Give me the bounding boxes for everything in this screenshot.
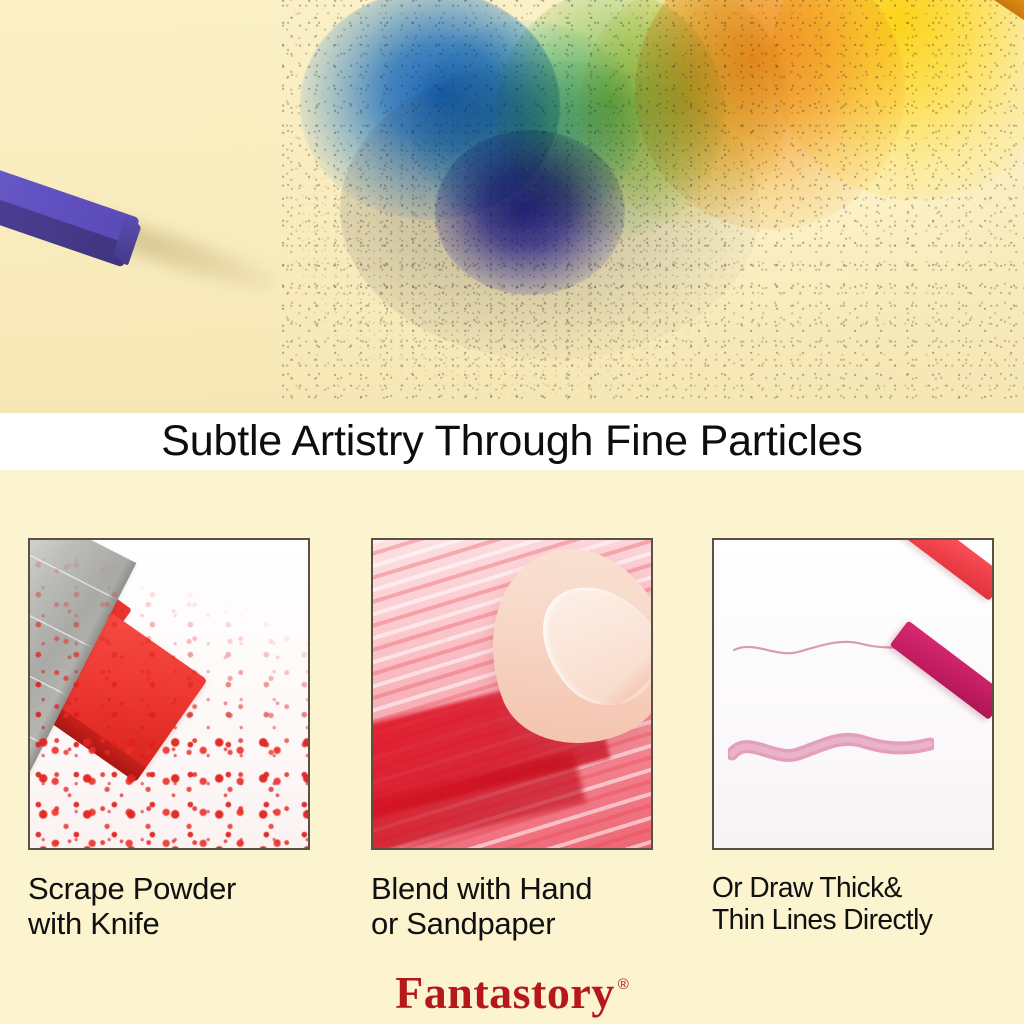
headline-band: Subtle Artistry Through Fine Particles (0, 413, 1024, 470)
t3-background (714, 540, 992, 848)
brand-logo: Fantastory ® (0, 962, 1024, 1024)
powder-fine-grain-texture (300, 40, 920, 410)
hero-image (0, 0, 1024, 413)
step-item-3: Or Draw Thick& Thin Lines Directly (712, 538, 996, 937)
t3-thick-line (728, 728, 934, 770)
registered-trademark-icon: ® (618, 976, 629, 993)
page-title: Subtle Artistry Through Fine Particles (161, 420, 862, 463)
step-item-1: Scrape Powder with Knife (28, 538, 312, 941)
step-item-2: Blend with Hand or Sandpaper (371, 538, 655, 941)
t1-red-powder-dust-heavy (30, 728, 308, 848)
step-1-caption: Scrape Powder with Knife (28, 872, 312, 941)
step-3-thumbnail[interactable] (712, 538, 994, 850)
steps-section: Scrape Powder with Knife Blend with Hand… (0, 470, 1024, 960)
brand-name: Fantastory (395, 970, 615, 1016)
t2-fingernail (518, 562, 653, 727)
step-3-caption: Or Draw Thick& Thin Lines Directly (712, 872, 987, 937)
step-1-thumbnail[interactable] (28, 538, 310, 850)
step-2-thumbnail[interactable] (371, 538, 653, 850)
step-2-caption: Blend with Hand or Sandpaper (371, 872, 655, 941)
